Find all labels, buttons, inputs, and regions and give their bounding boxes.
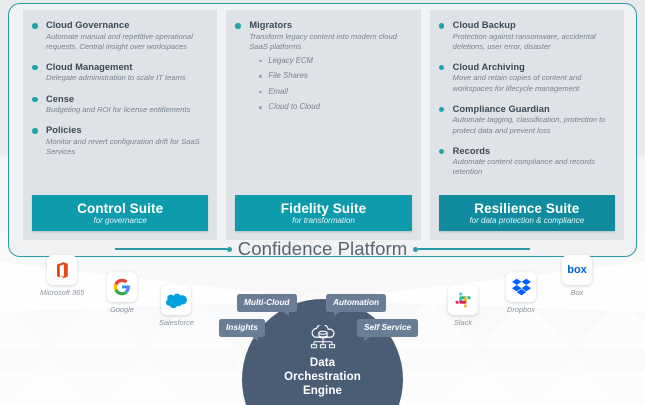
logo-slack[interactable]: Slack <box>448 285 478 327</box>
list-item-label: Legacy ECM <box>268 56 313 65</box>
list-item-label: Cloud to Cloud <box>268 102 320 111</box>
tag-self-service[interactable]: Self Service <box>357 319 418 337</box>
fidelity-suite-features: Migrators Transform legacy content into … <box>235 19 411 195</box>
microsoft-365-icon <box>53 261 72 280</box>
feature-item: Cloud Backup Protection against ransomwa… <box>439 19 615 52</box>
migrator-subitems: Legacy ECM File Shares Email <box>249 56 411 113</box>
logo-box[interactable]: box Box <box>562 255 592 297</box>
feature-title: Policies <box>46 124 208 136</box>
feature-item: Cloud Governance Automate manual and rep… <box>32 19 208 52</box>
logo-label: Google <box>110 305 134 314</box>
feature-title: Cloud Management <box>46 61 208 73</box>
resilience-suite-features: Cloud Backup Protection against ransomwa… <box>439 19 615 195</box>
logo-salesforce[interactable]: Salesforce <box>159 285 194 327</box>
tag-insights[interactable]: Insights <box>219 319 265 337</box>
confidence-platform-card: Cloud Governance Automate manual and rep… <box>8 3 637 257</box>
logo-tile <box>506 272 536 302</box>
list-item: Email <box>259 87 411 97</box>
logo-tile <box>448 285 478 315</box>
list-item-label: File Shares <box>268 71 307 80</box>
feature-title: Cense <box>46 93 208 105</box>
fidelity-suite-banner[interactable]: Fidelity Suite for transformation <box>235 195 411 231</box>
feature-item: Compliance Guardian Automate tagging, cl… <box>439 103 615 136</box>
engine-title: Data Orchestration Engine <box>242 356 403 398</box>
sub-bullet-dot-icon <box>259 91 261 93</box>
feature-title: Records <box>453 145 615 157</box>
feature-title: Compliance Guardian <box>453 103 615 115</box>
column-control-suite: Cloud Governance Automate manual and rep… <box>23 10 217 240</box>
dropbox-icon <box>512 278 531 296</box>
feature-title: Cloud Governance <box>46 19 208 31</box>
feature-item: Cloud Archiving Move and retain copies o… <box>439 61 615 94</box>
suite-columns: Cloud Governance Automate manual and rep… <box>23 10 624 240</box>
data-orchestration-engine: Data Orchestration Engine Multi-Cloud Au… <box>220 294 425 405</box>
feature-item: Policies Monitor and revert configuratio… <box>32 124 208 157</box>
control-suite-banner[interactable]: Control Suite for governance <box>32 195 208 231</box>
banner-subtitle: for transformation <box>292 216 355 226</box>
bullet-dot-icon <box>439 23 445 29</box>
feature-description: Delegate administration to scale IT team… <box>46 73 208 83</box>
bullet-dot-icon <box>439 65 445 71</box>
engine-title-line-3: Engine <box>242 384 403 398</box>
engine-title-line-1: Data <box>242 356 403 370</box>
feature-title: Cloud Backup <box>453 19 615 31</box>
logo-tile <box>107 272 137 302</box>
logo-label: Salesforce <box>159 318 194 327</box>
logo-label: Box <box>571 288 584 297</box>
column-resilience-suite: Cloud Backup Protection against ransomwa… <box>430 10 624 240</box>
logo-google[interactable]: Google <box>107 272 137 314</box>
logo-dropbox[interactable]: Dropbox <box>506 272 536 314</box>
box-icon: box <box>567 264 587 276</box>
banner-subtitle: for governance <box>93 216 146 226</box>
slack-icon <box>454 291 472 309</box>
infographic-canvas: Cloud Governance Automate manual and rep… <box>0 0 645 405</box>
list-item: Cloud to Cloud <box>259 102 411 112</box>
engine-title-line-2: Orchestration <box>242 370 403 384</box>
bullet-dot-icon <box>439 107 445 113</box>
feature-item: Cense Budgeting and ROI for license enti… <box>32 93 208 116</box>
column-fidelity-suite: Migrators Transform legacy content into … <box>226 10 420 240</box>
tag-automation[interactable]: Automation <box>326 294 386 312</box>
salesforce-icon <box>166 292 187 308</box>
sub-bullet-dot-icon <box>259 106 261 108</box>
google-icon <box>113 278 131 296</box>
feature-description: Budgeting and ROI for license entitlemen… <box>46 105 208 115</box>
feature-description: Monitor and revert configuration drift f… <box>46 137 208 157</box>
control-suite-features: Cloud Governance Automate manual and rep… <box>32 19 208 195</box>
logo-tile <box>47 255 77 285</box>
logo-label: Slack <box>454 318 472 327</box>
logo-tile <box>161 285 191 315</box>
feature-description: Automate manual and repetitive operation… <box>46 32 208 52</box>
feature-description: Automate tagging, classification, protec… <box>453 115 615 135</box>
logo-label: Dropbox <box>507 305 535 314</box>
bullet-dot-icon <box>32 23 38 29</box>
list-item: Legacy ECM <box>259 56 411 66</box>
feature-title: Cloud Archiving <box>453 61 615 73</box>
bullet-dot-icon <box>235 23 241 29</box>
bullet-dot-icon <box>32 65 38 71</box>
feature-item: Records Automate content compliance and … <box>439 145 615 178</box>
feature-title: Migrators <box>249 19 411 31</box>
bullet-dot-icon <box>439 149 445 155</box>
feature-description: Move and retain copies of content and wo… <box>453 73 615 93</box>
cloud-database-icon <box>308 325 338 351</box>
banner-subtitle: for data protection & compliance <box>469 216 584 226</box>
feature-item: Migrators Transform legacy content into … <box>235 19 411 112</box>
bullet-dot-icon <box>32 97 38 103</box>
logo-microsoft-365[interactable]: Microsoft 365 <box>40 255 84 297</box>
sub-bullet-dot-icon <box>259 60 261 62</box>
banner-title: Fidelity Suite <box>281 201 366 216</box>
list-item-label: Email <box>268 87 288 96</box>
bullet-dot-icon <box>32 128 38 134</box>
tag-multi-cloud[interactable]: Multi-Cloud <box>237 294 297 312</box>
logo-tile: box <box>562 255 592 285</box>
sub-bullet-dot-icon <box>259 75 261 77</box>
list-item: File Shares <box>259 71 411 81</box>
feature-description: Transform legacy content into modern clo… <box>249 32 411 52</box>
banner-title: Resilience Suite <box>474 201 579 216</box>
feature-description: Protection against ransomware, accidenta… <box>453 32 615 52</box>
feature-description: Automate content compliance and records … <box>453 157 615 177</box>
feature-item: Cloud Management Delegate administration… <box>32 61 208 84</box>
resilience-suite-banner[interactable]: Resilience Suite for data protection & c… <box>439 195 615 231</box>
banner-title: Control Suite <box>77 201 163 216</box>
logo-label: Microsoft 365 <box>40 288 84 297</box>
